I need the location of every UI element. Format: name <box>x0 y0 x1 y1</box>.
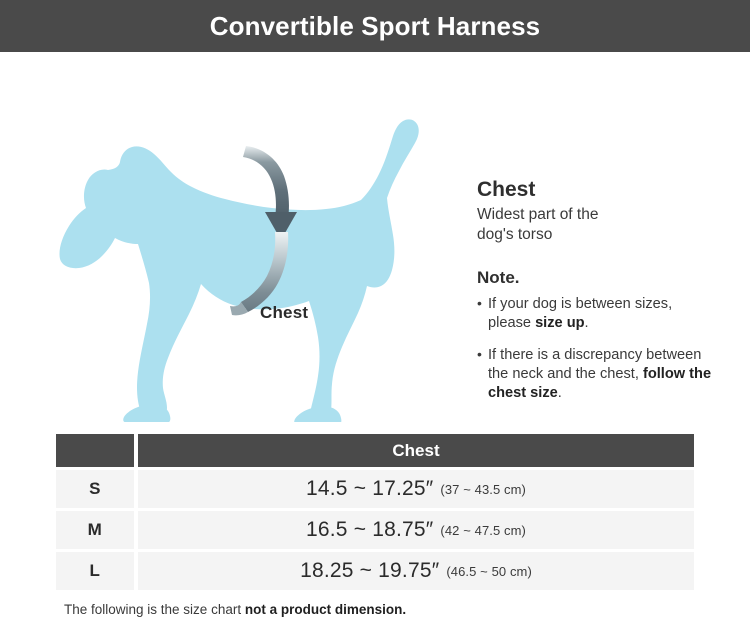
table-header-chest-label: Chest <box>392 441 439 461</box>
table-header: Chest <box>56 434 694 467</box>
table-cell-chest: 18.25 ~ 19.75″ (46.5 ~ 50 cm) <box>138 552 694 590</box>
table-cell-size: M <box>56 511 134 549</box>
table-header-chest-cell: Chest <box>138 434 694 467</box>
chest-cm-value-l: (46.5 ~ 50 cm) <box>446 564 532 579</box>
page-header-bar: Convertible Sport Harness <box>0 0 750 52</box>
chest-info-description-line2: dog's torso <box>477 226 552 243</box>
table-body: S 14.5 ~ 17.25″ (37 ~ 43.5 cm) M 16.5 ~ … <box>56 470 694 590</box>
bullet-icon: • <box>477 345 482 363</box>
chest-inch-value-s: 14.5 ~ 17.25″ <box>306 477 433 501</box>
table-row: L 18.25 ~ 19.75″ (46.5 ~ 50 cm) <box>56 552 694 590</box>
chest-inch-value-m: 16.5 ~ 18.75″ <box>306 518 433 542</box>
chest-caption-label: Chest <box>260 303 308 323</box>
table-header-size-cell <box>56 434 134 467</box>
note-heading: Note. <box>477 269 717 288</box>
chest-cm-value-m: (42 ~ 47.5 cm) <box>440 523 526 538</box>
bullet-icon: • <box>477 294 482 312</box>
chest-cm-value-s: (37 ~ 43.5 cm) <box>440 482 526 497</box>
note-text-after: . <box>585 315 589 331</box>
size-chart-table: Chest S 14.5 ~ 17.25″ (37 ~ 43.5 cm) M 1… <box>56 434 694 590</box>
note-item-size-up: • If your dog is between sizes, please s… <box>477 295 717 334</box>
dog-illustration <box>50 72 460 422</box>
table-cell-chest: 14.5 ~ 17.25″ (37 ~ 43.5 cm) <box>138 470 694 508</box>
info-panel: Chest Widest part of the dog's torso Not… <box>477 178 717 403</box>
table-cell-size: S <box>56 470 134 508</box>
page-title: Convertible Sport Harness <box>210 13 540 39</box>
table-row: M 16.5 ~ 18.75″ (42 ~ 47.5 cm) <box>56 511 694 549</box>
note-text-bold: size up <box>535 315 584 331</box>
chest-inch-value-l: 18.25 ~ 19.75″ <box>300 559 439 583</box>
note-item-discrepancy: • If there is a discrepancy between the … <box>477 346 717 404</box>
chest-info-description: Widest part of the dog's torso <box>477 205 717 244</box>
footnote-text-normal: The following is the size chart <box>64 602 245 617</box>
table-cell-size: L <box>56 552 134 590</box>
size-label-s: S <box>89 479 101 499</box>
size-label-m: M <box>88 520 103 540</box>
footnote: The following is the size chart not a pr… <box>64 602 406 618</box>
table-cell-chest: 16.5 ~ 18.75″ (42 ~ 47.5 cm) <box>138 511 694 549</box>
chest-info-description-line1: Widest part of the <box>477 206 598 223</box>
note-text-after: . <box>558 385 562 401</box>
size-label-l: L <box>90 561 101 581</box>
table-row: S 14.5 ~ 17.25″ (37 ~ 43.5 cm) <box>56 470 694 508</box>
table-header-row: Chest <box>56 434 694 467</box>
dog-silhouette-shape <box>59 119 418 422</box>
footnote-text-bold: not a product dimension. <box>245 602 406 617</box>
chest-info-heading: Chest <box>477 178 717 202</box>
